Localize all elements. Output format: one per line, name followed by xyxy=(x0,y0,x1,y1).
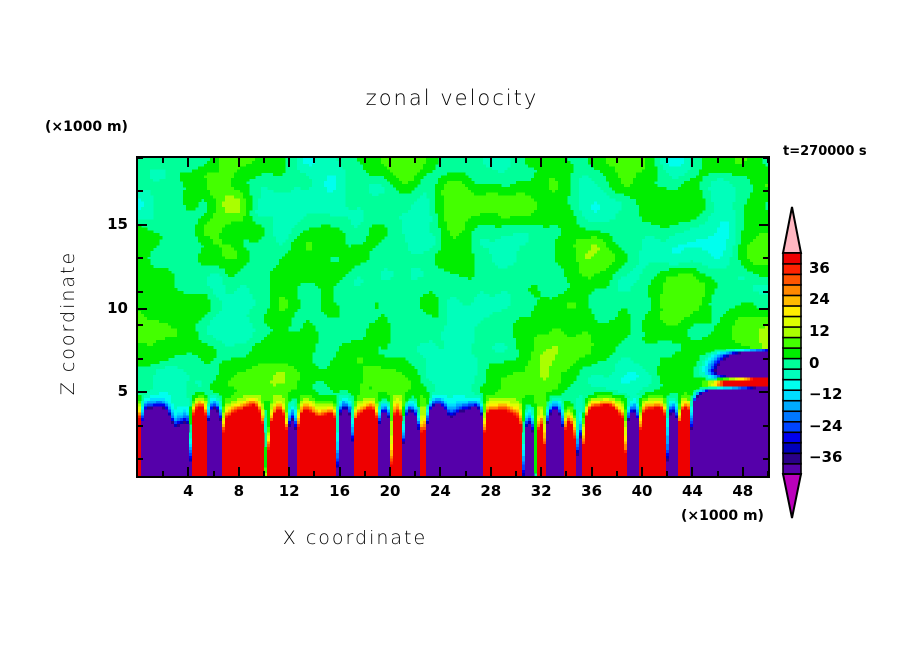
y-tick-mark xyxy=(138,157,143,159)
x-tick-label: 32 xyxy=(521,482,561,500)
y-tick-label: 5 xyxy=(88,382,128,400)
contour-plot-area xyxy=(136,156,770,478)
x-tick-mark xyxy=(717,471,719,476)
y-axis-unit-label: (×1000 m) xyxy=(45,119,128,135)
x-tick-mark xyxy=(540,467,542,476)
x-tick-mark xyxy=(263,158,265,163)
y-tick-mark xyxy=(763,324,768,326)
x-tick-mark xyxy=(742,467,744,476)
x-tick-mark xyxy=(389,467,391,476)
y-tick-mark xyxy=(138,257,143,259)
x-tick-mark xyxy=(641,467,643,476)
x-tick-mark xyxy=(666,471,668,476)
x-tick-label: 36 xyxy=(572,482,612,500)
x-tick-label: 40 xyxy=(622,482,662,500)
x-tick-mark xyxy=(565,158,567,163)
x-tick-mark xyxy=(162,471,164,476)
y-tick-mark xyxy=(138,291,143,293)
y-tick-mark xyxy=(763,425,768,427)
y-tick-mark xyxy=(763,157,768,159)
x-axis-title: X coordinate xyxy=(0,527,710,549)
colorbar xyxy=(779,205,807,520)
x-tick-label: 12 xyxy=(269,482,309,500)
x-tick-mark xyxy=(414,158,416,163)
y-tick-mark xyxy=(763,291,768,293)
x-tick-mark xyxy=(213,471,215,476)
y-tick-mark xyxy=(138,458,143,460)
x-tick-mark xyxy=(490,158,492,167)
x-tick-mark xyxy=(439,158,441,167)
y-tick-mark xyxy=(763,358,768,360)
x-tick-mark xyxy=(565,471,567,476)
y-tick-mark xyxy=(763,190,768,192)
x-tick-mark xyxy=(313,158,315,163)
colorbar-tick-label: −24 xyxy=(809,417,842,435)
x-tick-mark xyxy=(641,158,643,167)
y-tick-mark xyxy=(759,391,768,393)
y-tick-mark xyxy=(763,458,768,460)
y-tick-mark xyxy=(138,224,147,226)
y-tick-mark xyxy=(138,391,147,393)
x-tick-mark xyxy=(364,158,366,163)
x-tick-mark xyxy=(616,158,618,163)
y-tick-mark xyxy=(759,224,768,226)
colorbar-tick-label: −12 xyxy=(809,385,842,403)
page-title: zonal velocity xyxy=(0,86,904,110)
x-tick-label: 4 xyxy=(168,482,208,500)
colorbar-swatches xyxy=(779,205,807,520)
x-tick-label: 8 xyxy=(219,482,259,500)
x-tick-mark xyxy=(238,467,240,476)
x-tick-mark xyxy=(616,471,618,476)
x-tick-mark xyxy=(162,158,164,163)
x-tick-mark xyxy=(490,467,492,476)
x-tick-mark xyxy=(717,158,719,163)
x-tick-mark xyxy=(213,158,215,163)
x-tick-mark xyxy=(364,471,366,476)
x-tick-mark xyxy=(666,158,668,163)
y-tick-label: 15 xyxy=(88,215,128,233)
x-tick-label: 16 xyxy=(320,482,360,500)
y-tick-mark xyxy=(759,308,768,310)
x-tick-mark xyxy=(465,158,467,163)
x-tick-mark xyxy=(742,158,744,167)
x-tick-mark xyxy=(540,158,542,167)
x-tick-mark xyxy=(187,467,189,476)
y-tick-mark xyxy=(138,358,143,360)
x-tick-mark xyxy=(767,471,769,476)
x-tick-mark xyxy=(414,471,416,476)
x-tick-mark xyxy=(288,158,290,167)
colorbar-tick-label: 12 xyxy=(809,322,830,340)
x-tick-mark xyxy=(591,158,593,167)
y-tick-label: 10 xyxy=(88,299,128,317)
y-tick-mark xyxy=(138,190,143,192)
y-tick-mark xyxy=(138,308,147,310)
x-tick-label: 20 xyxy=(370,482,410,500)
x-tick-mark xyxy=(591,467,593,476)
x-tick-mark xyxy=(691,467,693,476)
x-tick-mark xyxy=(339,158,341,167)
colorbar-tick-label: 24 xyxy=(809,290,830,308)
timestamp-label: t=270000 s xyxy=(783,144,867,159)
colorbar-tick-label: −36 xyxy=(809,448,842,466)
x-tick-mark xyxy=(339,467,341,476)
x-tick-label: 28 xyxy=(471,482,511,500)
x-tick-mark xyxy=(263,471,265,476)
x-tick-label: 44 xyxy=(672,482,712,500)
colorbar-tick-label: 0 xyxy=(809,354,819,372)
x-tick-mark xyxy=(389,158,391,167)
x-tick-mark xyxy=(691,158,693,167)
x-tick-mark xyxy=(439,467,441,476)
y-axis-title: Z coordinate xyxy=(57,193,79,453)
x-tick-mark xyxy=(515,471,517,476)
x-axis-unit-label: (×1000 m) xyxy=(681,508,764,524)
x-tick-mark xyxy=(238,158,240,167)
x-tick-mark xyxy=(515,158,517,163)
x-tick-mark xyxy=(187,158,189,167)
x-tick-label: 24 xyxy=(420,482,460,500)
contour-field xyxy=(138,158,768,476)
x-tick-mark xyxy=(465,471,467,476)
y-tick-mark xyxy=(138,324,143,326)
y-tick-mark xyxy=(138,425,143,427)
colorbar-tick-label: 36 xyxy=(809,259,830,277)
x-tick-mark xyxy=(313,471,315,476)
x-tick-mark xyxy=(288,467,290,476)
x-tick-label: 48 xyxy=(723,482,763,500)
y-tick-mark xyxy=(763,257,768,259)
